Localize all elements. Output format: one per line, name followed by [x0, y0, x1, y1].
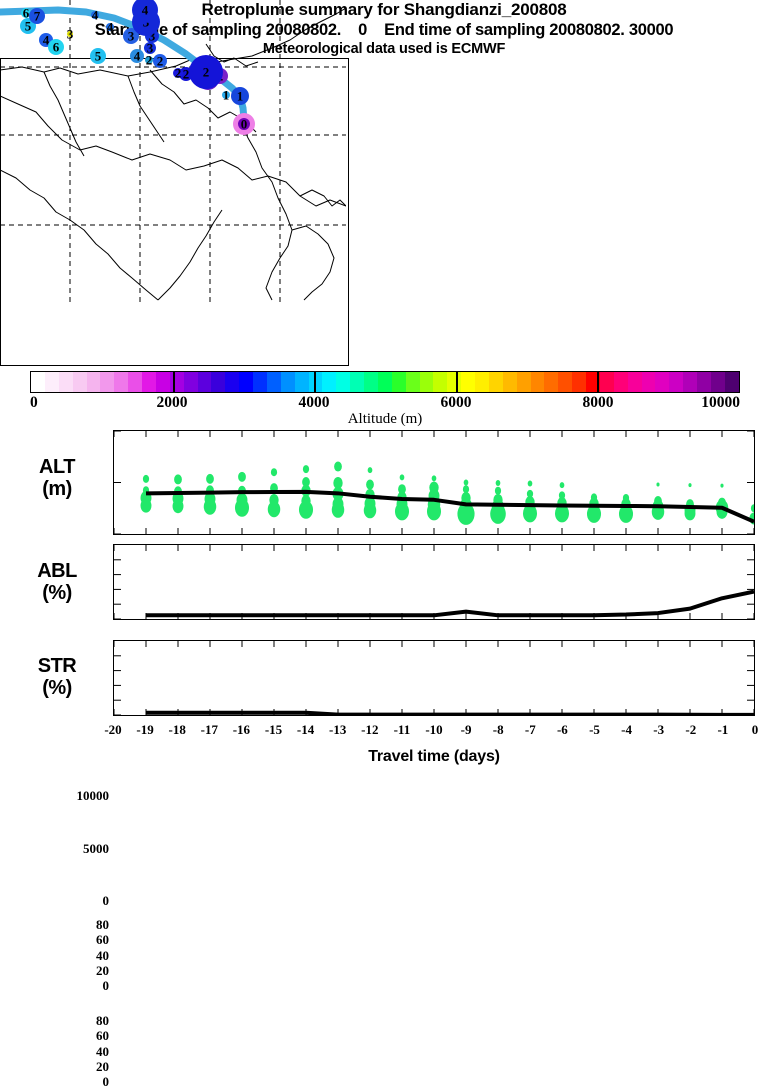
alt-spread-marker: [366, 480, 374, 490]
svg-text:4: 4: [92, 8, 99, 23]
alt-spread-marker: [206, 474, 214, 484]
ytick-label: 20: [96, 1059, 109, 1075]
colorbar-swatch: [517, 372, 531, 392]
alt-spread-marker: [432, 475, 437, 481]
colorbar-swatch: [114, 372, 128, 392]
abl-line: [146, 592, 754, 616]
xtick-label: -7: [515, 722, 545, 738]
alt-spread-marker: [656, 483, 659, 487]
colorbar-swatch: [600, 372, 614, 392]
colorbar-swatch: [364, 372, 378, 392]
svg-text:5: 5: [95, 49, 102, 64]
alt-axis-label: ALT(m): [8, 456, 106, 500]
str-axis-label: STR(%): [8, 655, 106, 699]
map-plume-point: 1: [231, 87, 249, 105]
colorbar-tick-label: 6000: [441, 394, 472, 412]
xtick-label: -2: [676, 722, 706, 738]
colorbar-swatch: [253, 372, 267, 392]
alt-spread-marker: [299, 501, 313, 519]
colorbar-divider: [314, 372, 316, 392]
ytick-label: 20: [96, 963, 109, 979]
colorbar-swatch: [711, 372, 725, 392]
ytick-label: 60: [96, 1028, 109, 1044]
svg-text:4: 4: [134, 49, 141, 64]
colorbar-swatch: [447, 372, 461, 392]
colorbar-swatch: [697, 372, 711, 392]
colorbar-divider: [456, 372, 458, 392]
colorbar-divider: [173, 372, 175, 392]
alt-spread-marker: [235, 499, 249, 517]
ytick-label: 0: [103, 893, 110, 909]
xaxis-title: Travel time (days): [113, 748, 755, 766]
xtick-label: -18: [162, 722, 192, 738]
map-plume-point: 4: [106, 20, 114, 35]
map-graphic: 0112222222333334444455667: [0, 0, 346, 305]
alt-spread-marker: [427, 502, 441, 520]
str-plot-panel[interactable]: [113, 640, 755, 716]
colorbar-swatch: [225, 372, 239, 392]
xtick-label: -4: [612, 722, 642, 738]
colorbar-swatch: [59, 372, 73, 392]
colorbar-swatch: [475, 372, 489, 392]
colorbar-swatch: [295, 372, 309, 392]
alt-spread-marker: [395, 502, 409, 520]
abl-axis-label: ABL(%): [8, 560, 106, 604]
xtick-label: 0: [740, 722, 768, 738]
colorbar-divider: [597, 372, 599, 392]
colorbar-swatch: [614, 372, 628, 392]
alt-spread-marker: [751, 504, 754, 512]
colorbar-tick-label: 8000: [583, 394, 614, 412]
colorbar-tick-label: 10000: [701, 394, 740, 412]
map-plume-point: 4: [91, 8, 99, 23]
alt-spread-marker: [490, 504, 506, 524]
colorbar-swatch: [281, 372, 295, 392]
alt-spread-marker: [688, 483, 691, 487]
colorbar-tick-label: 2000: [157, 394, 188, 412]
alt-spread-marker: [400, 474, 405, 480]
colorbar-swatch: [420, 372, 434, 392]
xtick-label: -5: [580, 722, 610, 738]
xtick-label: -19: [130, 722, 160, 738]
altitude-colorbar: [30, 371, 740, 393]
map-plume-point: 2: [189, 55, 223, 89]
map-plume-point: 2: [153, 54, 167, 69]
colorbar-swatch: [142, 372, 156, 392]
colorbar-swatch: [503, 372, 517, 392]
alt-spread-marker: [173, 499, 184, 513]
colorbar-swatch: [239, 372, 253, 392]
xtick-label: -11: [387, 722, 417, 738]
alt-spread-marker: [271, 468, 277, 476]
svg-text:0: 0: [241, 117, 248, 132]
xtick-label: -20: [98, 722, 128, 738]
xtick-label: -13: [323, 722, 353, 738]
alt-spread-marker: [528, 481, 533, 487]
map-plume-point: 3: [67, 27, 74, 42]
svg-text:3: 3: [128, 29, 135, 44]
colorbar-swatch: [489, 372, 503, 392]
ytick-label: 0: [103, 1074, 110, 1090]
xtick-label: -3: [644, 722, 674, 738]
str-plot-graphic: [114, 641, 754, 715]
colorbar-swatch: [45, 372, 59, 392]
ytick-label: 80: [96, 917, 109, 933]
abl-plot-graphic: [114, 545, 754, 619]
alt-spread-marker: [464, 480, 469, 486]
alt-spread-marker: [560, 482, 565, 488]
colorbar-title: Altitude (m): [30, 411, 740, 428]
alt-plot-panel[interactable]: [113, 430, 755, 535]
map-plume-point: 7: [29, 8, 45, 24]
ytick-label: 0: [103, 978, 110, 994]
xtick-label: -8: [483, 722, 513, 738]
colorbar-swatch: [198, 372, 212, 392]
map-plume-point: 0: [233, 113, 255, 135]
svg-text:2: 2: [175, 66, 182, 81]
xtick-label: -12: [355, 722, 385, 738]
colorbar-swatch: [531, 372, 545, 392]
ytick-label: 10000: [77, 788, 110, 804]
svg-text:6: 6: [23, 6, 30, 21]
map-plume-point: 5: [90, 48, 106, 64]
colorbar-tick-label: 0: [30, 394, 38, 412]
colorbar-swatch: [642, 372, 656, 392]
altitude-colorbar-group: 0200040006000800010000 Altitude (m): [30, 371, 740, 393]
colorbar-swatch: [378, 372, 392, 392]
ytick-label: 40: [96, 1044, 109, 1060]
colorbar-swatch: [336, 372, 350, 392]
colorbar-tick-label: 4000: [299, 394, 330, 412]
ytick-label: 80: [96, 1013, 109, 1029]
colorbar-swatch: [725, 372, 739, 392]
colorbar-swatch: [558, 372, 572, 392]
colorbar-swatch: [572, 372, 586, 392]
xtick-label: -17: [194, 722, 224, 738]
svg-text:4: 4: [107, 20, 114, 35]
xtick-label: -16: [226, 722, 256, 738]
colorbar-swatch: [128, 372, 142, 392]
xtick-label: -1: [708, 722, 738, 738]
colorbar-swatch: [544, 372, 558, 392]
xtick-label: -10: [419, 722, 449, 738]
alt-spread-marker: [334, 462, 342, 472]
xtick-label: -9: [451, 722, 481, 738]
str-line: [146, 713, 754, 715]
colorbar-swatch: [669, 372, 683, 392]
colorbar-swatch: [461, 372, 475, 392]
alt-spread-marker: [303, 465, 309, 473]
alt-spread-marker: [143, 475, 149, 483]
colorbar-swatch: [322, 372, 336, 392]
svg-text:4: 4: [142, 3, 149, 18]
colorbar-swatch: [433, 372, 447, 392]
alt-spread-marker: [496, 480, 501, 486]
retroplume-map[interactable]: 0112222222333334444455667: [0, 58, 349, 366]
abl-plot-panel[interactable]: [113, 544, 755, 620]
colorbar-swatch: [628, 372, 642, 392]
map-plume-point: 6: [48, 39, 64, 55]
colorbar-swatch: [350, 372, 364, 392]
colorbar-swatch: [392, 372, 406, 392]
map-plume-point: 1: [222, 88, 230, 103]
colorbar-swatch: [87, 372, 101, 392]
svg-text:7: 7: [34, 9, 41, 24]
colorbar-swatch: [406, 372, 420, 392]
svg-text:1: 1: [223, 88, 230, 103]
map-plume-point: 4: [130, 49, 144, 64]
alt-spread-marker: [364, 502, 376, 518]
svg-text:2: 2: [183, 67, 190, 82]
alt-spread-marker: [495, 487, 501, 495]
colorbar-swatch: [683, 372, 697, 392]
alt-spread-marker: [368, 467, 373, 473]
colorbar-swatch: [100, 372, 114, 392]
svg-text:3: 3: [67, 27, 74, 42]
alt-spread-marker: [174, 474, 182, 484]
xtick-label: -15: [259, 722, 289, 738]
alt-spread-marker: [238, 472, 246, 482]
svg-text:1: 1: [237, 89, 244, 104]
colorbar-swatch: [655, 372, 669, 392]
alt-spread-marker: [720, 484, 723, 488]
alt-spread-marker: [204, 499, 216, 515]
xtick-label: -6: [547, 722, 577, 738]
alt-plot-graphic: [114, 431, 754, 534]
colorbar-swatch: [31, 372, 45, 392]
ytick-label: 60: [96, 932, 109, 948]
colorbar-swatch: [73, 372, 87, 392]
xtick-label: -14: [291, 722, 321, 738]
svg-text:2: 2: [203, 65, 210, 80]
svg-text:6: 6: [53, 40, 60, 55]
colorbar-swatch: [184, 372, 198, 392]
ytick-label: 5000: [83, 841, 109, 857]
svg-text:2: 2: [157, 54, 164, 69]
colorbar-swatch: [211, 372, 225, 392]
colorbar-swatch: [156, 372, 170, 392]
colorbar-swatch: [267, 372, 281, 392]
alt-spread-marker: [141, 499, 152, 513]
alt-spread-marker: [268, 501, 280, 517]
alt-spread-marker: [332, 502, 344, 518]
ytick-label: 40: [96, 948, 109, 964]
